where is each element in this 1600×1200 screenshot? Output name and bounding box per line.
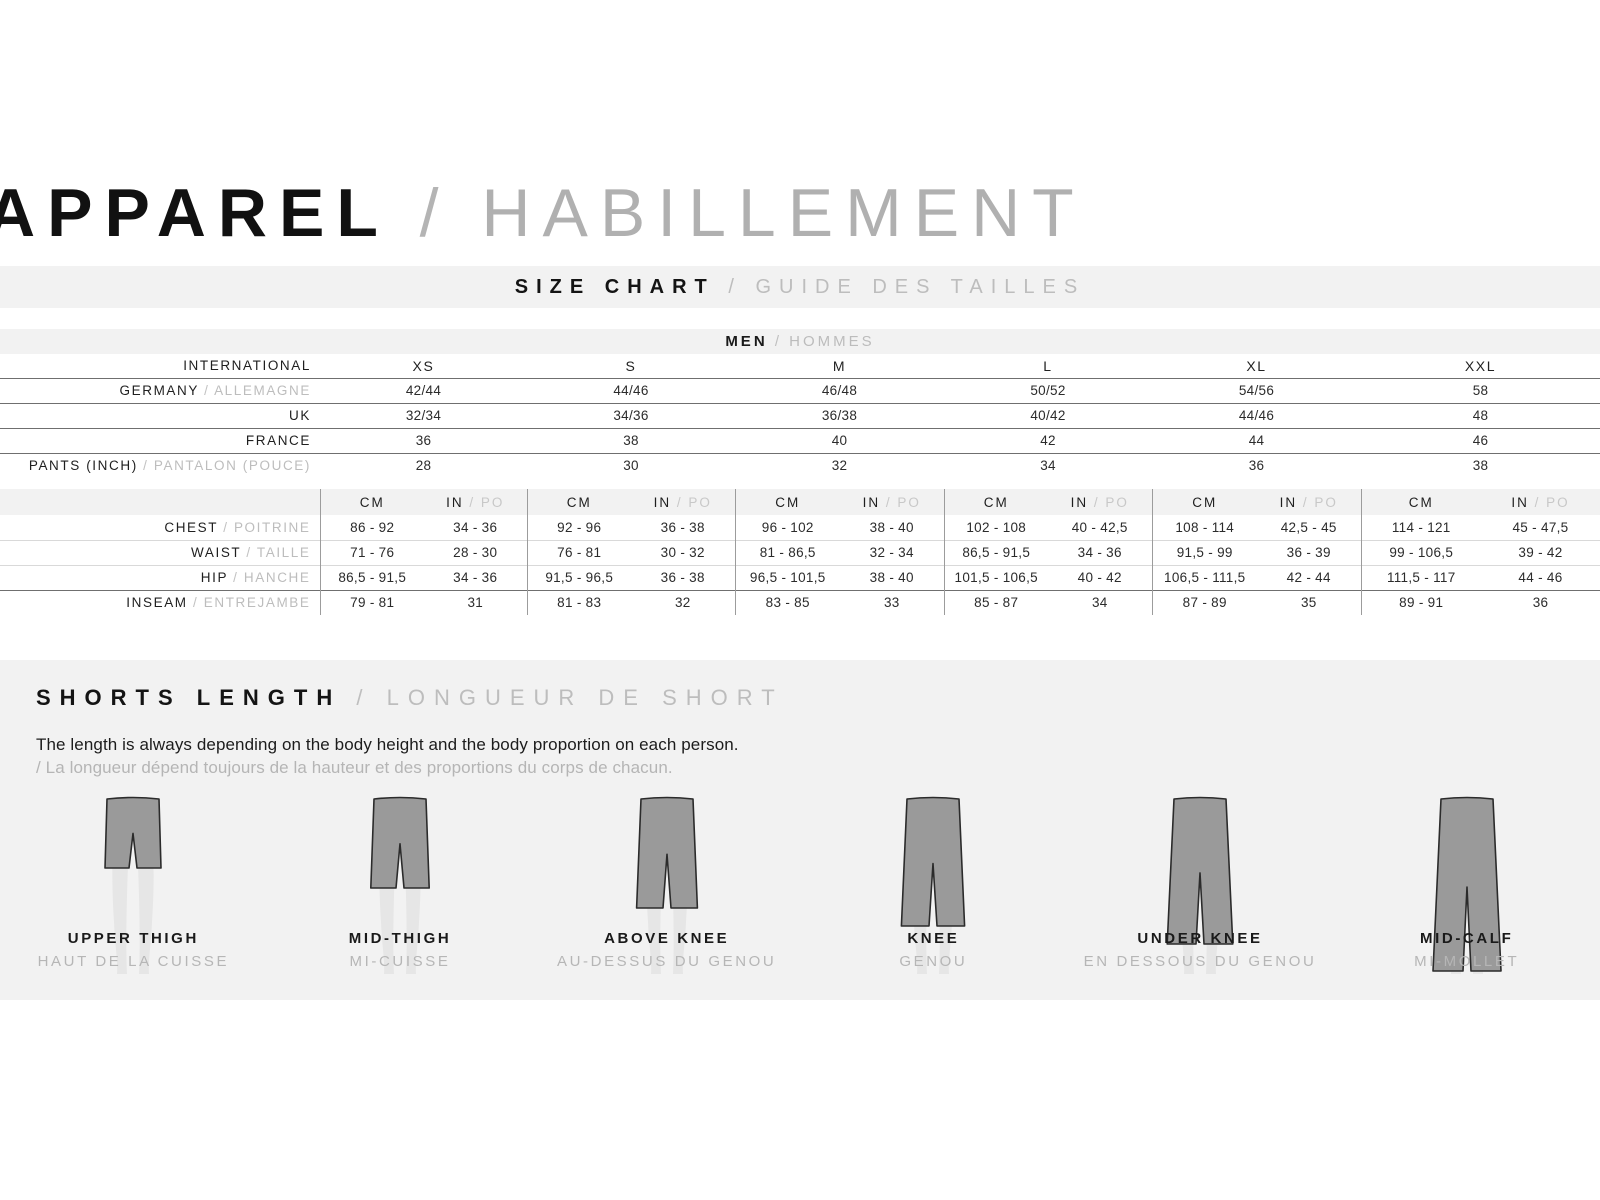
- shorts-caption: ABOVE KNEEAU-DESSUS DU GENOU: [533, 930, 800, 970]
- unit-in-xs: IN / PO: [424, 489, 527, 515]
- shorts-caption-en: UPPER THIGH: [0, 930, 267, 947]
- row-label-international: INTERNATIONAL: [0, 354, 320, 378]
- cell-in-xxl: 44 - 46: [1481, 565, 1600, 590]
- cell-cm-xl: 108 - 114: [1152, 515, 1257, 540]
- cell-cm-m: 83 - 85: [735, 590, 840, 615]
- shorts-caption: MID-THIGHMI-CUISSE: [267, 930, 534, 970]
- cell-xs: 36: [320, 428, 527, 453]
- cell-in-s: 36 - 38: [631, 515, 735, 540]
- cell-in-s: 32: [631, 590, 735, 615]
- shorts-heading-fr: LONGUEUR DE SHORT: [387, 685, 784, 710]
- size-header-xl: XL: [1152, 354, 1361, 378]
- measurements-table: CMIN / POCMIN / POCMIN / POCMIN / POCMIN…: [0, 489, 1600, 615]
- cell-xxl: 58: [1361, 378, 1600, 403]
- shorts-note-fr: / La longueur dépend toujours de la haut…: [36, 756, 1136, 779]
- cell-in-s: 30 - 32: [631, 540, 735, 565]
- cell-in-xxl: 39 - 42: [1481, 540, 1600, 565]
- cell-in-xxl: 45 - 47,5: [1481, 515, 1600, 540]
- cell-in-xs: 34 - 36: [424, 515, 527, 540]
- cell-s: 30: [527, 453, 735, 478]
- shorts-caption-en: ABOVE KNEE: [533, 930, 800, 947]
- size-header-xxl: XXL: [1361, 354, 1600, 378]
- shorts-caption-fr: EN DESSOUS DU GENOU: [1067, 953, 1334, 970]
- cell-cm-xxl: 114 - 121: [1361, 515, 1481, 540]
- page-title-fr: HABILLEMENT: [481, 175, 1085, 251]
- cell-in-xs: 34 - 36: [424, 565, 527, 590]
- shorts-caption-fr: AU-DESSUS DU GENOU: [533, 953, 800, 970]
- unit-header-spacer: [0, 489, 320, 515]
- cell-xl: 44: [1152, 428, 1361, 453]
- standards-table: INTERNATIONALXSSMLXLXXLGERMANY / ALLEMAG…: [0, 354, 1600, 478]
- cell-m: 40: [735, 428, 944, 453]
- cell-xl: 54/56: [1152, 378, 1361, 403]
- cell-xl: 44/46: [1152, 403, 1361, 428]
- cell-l: 40/42: [944, 403, 1152, 428]
- cell-xxl: 38: [1361, 453, 1600, 478]
- cell-in-xl: 36 - 39: [1257, 540, 1361, 565]
- unit-cm-s: CM: [527, 489, 631, 515]
- section-header-men: MEN / HOMMES: [0, 329, 1600, 354]
- row-label-hip: HIP / HANCHE: [0, 565, 320, 590]
- unit-in-xl: IN / PO: [1257, 489, 1361, 515]
- row-label-waist: WAIST / TAILLE: [0, 540, 320, 565]
- cell-in-m: 32 - 34: [840, 540, 944, 565]
- cell-cm-s: 76 - 81: [527, 540, 631, 565]
- cell-in-xl: 35: [1257, 590, 1361, 615]
- cell-cm-s: 81 - 83: [527, 590, 631, 615]
- cell-l: 42: [944, 428, 1152, 453]
- cell-cm-l: 101,5 - 106,5: [944, 565, 1048, 590]
- cell-cm-xxl: 111,5 - 117: [1361, 565, 1481, 590]
- shorts-caption-en: MID-THIGH: [267, 930, 534, 947]
- unit-cm-xxl: CM: [1361, 489, 1481, 515]
- row-label-uk: UK: [0, 403, 320, 428]
- cell-l: 34: [944, 453, 1152, 478]
- table-row: WAIST / TAILLE71 - 7628 - 3076 - 8130 - …: [0, 540, 1600, 565]
- shorts-caption-en: MID-CALF: [1333, 930, 1600, 947]
- cell-in-s: 36 - 38: [631, 565, 735, 590]
- shorts-caption-en: KNEE: [800, 930, 1067, 947]
- page-title: APPAREL / HABILLEMENT: [0, 160, 1600, 265]
- cell-in-l: 40 - 42: [1048, 565, 1152, 590]
- shorts-caption-fr: MI-MOLLET: [1333, 953, 1600, 970]
- row-label-france: FRANCE: [0, 428, 320, 453]
- cell-cm-l: 102 - 108: [944, 515, 1048, 540]
- unit-in-s: IN / PO: [631, 489, 735, 515]
- cell-cm-l: 85 - 87: [944, 590, 1048, 615]
- cell-xxl: 48: [1361, 403, 1600, 428]
- cell-xl: 36: [1152, 453, 1361, 478]
- cell-s: 44/46: [527, 378, 735, 403]
- row-label-pants-inch: PANTS (INCH) / PANTALON (POUCE): [0, 453, 320, 478]
- cell-cm-xs: 86,5 - 91,5: [320, 565, 424, 590]
- shorts-caption: UNDER KNEEEN DESSOUS DU GENOU: [1067, 930, 1334, 970]
- table-row: PANTS (INCH) / PANTALON (POUCE)283032343…: [0, 453, 1600, 478]
- cell-cm-xl: 106,5 - 111,5: [1152, 565, 1257, 590]
- cell-xs: 28: [320, 453, 527, 478]
- shorts-heading-en: SHORTS LENGTH: [36, 685, 341, 710]
- cell-cm-xxl: 99 - 106,5: [1361, 540, 1481, 565]
- men-label-slash: /: [775, 333, 782, 350]
- shorts-caption-fr: HAUT DE LA CUISSE: [0, 953, 267, 970]
- cell-m: 32: [735, 453, 944, 478]
- size-header-xs: XS: [320, 354, 527, 378]
- cell-in-xxl: 36: [1481, 590, 1600, 615]
- table-row: FRANCE363840424446: [0, 428, 1600, 453]
- size-chart-page: APPAREL / HABILLEMENT SIZE CHART / GUIDE…: [0, 0, 1600, 1200]
- unit-cm-xl: CM: [1152, 489, 1257, 515]
- cell-in-l: 34: [1048, 590, 1152, 615]
- cell-cm-xs: 86 - 92: [320, 515, 424, 540]
- size-chart-label-en: SIZE CHART: [515, 276, 715, 298]
- unit-in-l: IN / PO: [1048, 489, 1152, 515]
- cell-cm-xs: 79 - 81: [320, 590, 424, 615]
- cell-in-m: 33: [840, 590, 944, 615]
- cell-cm-s: 92 - 96: [527, 515, 631, 540]
- unit-cm-m: CM: [735, 489, 840, 515]
- men-label-fr: HOMMES: [789, 333, 875, 350]
- unit-cm-l: CM: [944, 489, 1048, 515]
- shorts-caption-fr: MI-CUISSE: [267, 953, 534, 970]
- cell-in-m: 38 - 40: [840, 515, 944, 540]
- cell-in-l: 40 - 42,5: [1048, 515, 1152, 540]
- table-row: GERMANY / ALLEMAGNE42/4444/4646/4850/525…: [0, 378, 1600, 403]
- unit-cm-xs: CM: [320, 489, 424, 515]
- shorts-caption: KNEEGENOU: [800, 930, 1067, 970]
- shorts-length-heading: SHORTS LENGTH / LONGUEUR DE SHORT: [36, 685, 784, 711]
- cell-in-l: 34 - 36: [1048, 540, 1152, 565]
- cell-cm-xs: 71 - 76: [320, 540, 424, 565]
- cell-in-xs: 28 - 30: [424, 540, 527, 565]
- unit-in-xxl: IN / PO: [1481, 489, 1600, 515]
- size-chart-label-fr: GUIDE DES TAILLES: [755, 276, 1085, 298]
- size-chart-label-slash: /: [728, 276, 742, 298]
- size-header-s: S: [527, 354, 735, 378]
- cell-xxl: 46: [1361, 428, 1600, 453]
- cell-xs: 42/44: [320, 378, 527, 403]
- table-row: INTERNATIONALXSSMLXLXXL: [0, 354, 1600, 378]
- unit-header-row: CMIN / POCMIN / POCMIN / POCMIN / POCMIN…: [0, 489, 1600, 515]
- cell-cm-s: 91,5 - 96,5: [527, 565, 631, 590]
- cell-l: 50/52: [944, 378, 1152, 403]
- cell-cm-m: 96 - 102: [735, 515, 840, 540]
- size-chart-band: SIZE CHART / GUIDE DES TAILLES: [0, 266, 1600, 308]
- table-row: HIP / HANCHE86,5 - 91,534 - 3691,5 - 96,…: [0, 565, 1600, 590]
- cell-in-xl: 42 - 44: [1257, 565, 1361, 590]
- shorts-heading-slash: /: [356, 685, 371, 710]
- cell-cm-l: 86,5 - 91,5: [944, 540, 1048, 565]
- cell-in-m: 38 - 40: [840, 565, 944, 590]
- cell-xs: 32/34: [320, 403, 527, 428]
- table-row: CHEST / POITRINE86 - 9234 - 3692 - 9636 …: [0, 515, 1600, 540]
- shorts-note-en: The length is always depending on the bo…: [36, 733, 1136, 756]
- unit-in-m: IN / PO: [840, 489, 944, 515]
- cell-in-xl: 42,5 - 45: [1257, 515, 1361, 540]
- cell-cm-xl: 87 - 89: [1152, 590, 1257, 615]
- row-label-inseam: INSEAM / ENTREJAMBE: [0, 590, 320, 615]
- table-row: UK32/3434/3636/3840/4244/4648: [0, 403, 1600, 428]
- shorts-caption-fr: GENOU: [800, 953, 1067, 970]
- cell-s: 34/36: [527, 403, 735, 428]
- cell-cm-xl: 91,5 - 99: [1152, 540, 1257, 565]
- shorts-caption-en: UNDER KNEE: [1067, 930, 1334, 947]
- shorts-caption: UPPER THIGHHAUT DE LA CUISSE: [0, 930, 267, 970]
- table-row: INSEAM / ENTREJAMBE79 - 813181 - 833283 …: [0, 590, 1600, 615]
- cell-s: 38: [527, 428, 735, 453]
- shorts-caption-row: UPPER THIGHHAUT DE LA CUISSEMID-THIGHMI-…: [0, 930, 1600, 970]
- size-header-l: L: [944, 354, 1152, 378]
- page-title-en: APPAREL: [0, 175, 389, 251]
- cell-m: 46/48: [735, 378, 944, 403]
- men-label-en: MEN: [725, 333, 767, 350]
- cell-in-xs: 31: [424, 590, 527, 615]
- shorts-caption: MID-CALFMI-MOLLET: [1333, 930, 1600, 970]
- size-header-m: M: [735, 354, 944, 378]
- cell-m: 36/38: [735, 403, 944, 428]
- cell-cm-m: 96,5 - 101,5: [735, 565, 840, 590]
- row-label-chest: CHEST / POITRINE: [0, 515, 320, 540]
- row-label-germany: GERMANY / ALLEMAGNE: [0, 378, 320, 403]
- cell-cm-m: 81 - 86,5: [735, 540, 840, 565]
- cell-cm-xxl: 89 - 91: [1361, 590, 1481, 615]
- page-title-slash: /: [420, 175, 451, 251]
